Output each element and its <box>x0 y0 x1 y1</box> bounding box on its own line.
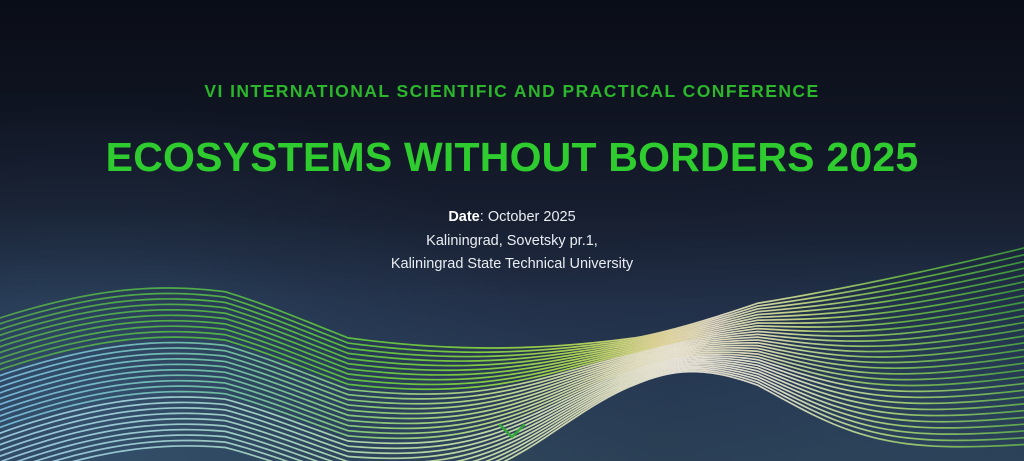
date-value: October 2025 <box>488 209 576 225</box>
event-date-line: Date: October 2025 <box>0 206 1024 229</box>
conference-eyebrow: VI International Scientific and Practica… <box>0 0 1024 101</box>
hero-banner: VI International Scientific and Practica… <box>0 0 1024 461</box>
scroll-down-button[interactable] <box>492 418 532 444</box>
event-venue-line: Kaliningrad State Technical University <box>0 253 1024 276</box>
event-address-line: Kaliningrad, Sovetsky pr.1, <box>0 230 1024 253</box>
page-title: Ecosystems Without Borders 2025 <box>0 101 1024 181</box>
chevron-down-icon <box>492 418 532 444</box>
date-separator: : <box>480 209 488 225</box>
event-details: Date: October 2025 Kaliningrad, Sovetsky… <box>0 181 1024 276</box>
hero-text-block: VI International Scientific and Practica… <box>0 0 1024 277</box>
date-label: Date <box>448 209 479 225</box>
